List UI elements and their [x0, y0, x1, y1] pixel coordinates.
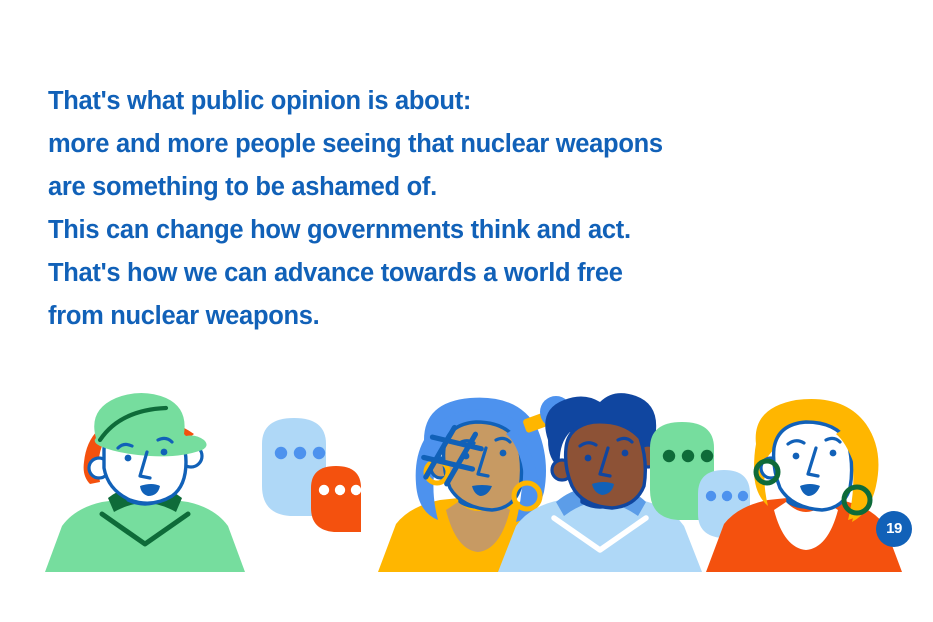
figure1-body: [45, 496, 245, 572]
bubble-a-dot-1: [275, 447, 287, 459]
headline-line-6: from nuclear weapons.: [48, 295, 848, 338]
figure1-eye-right: [161, 449, 168, 456]
page-number-badge: 19: [876, 511, 912, 547]
bubble-c-dot-3: [701, 450, 713, 462]
figure3-eye-left: [585, 455, 592, 462]
headline-line-5: That's how we can advance towards a worl…: [48, 252, 848, 295]
people-illustration: [0, 390, 933, 580]
headline-line-3: are something to be ashamed of.: [48, 166, 848, 209]
headline-line-4: This can change how governments think an…: [48, 209, 848, 252]
bubble-d-dot-2: [722, 491, 732, 501]
bubble-b-dot-3: [351, 485, 361, 495]
figure4-eye-right: [830, 450, 837, 457]
figure1-eye-left: [125, 455, 132, 462]
bubble-group-a: [262, 418, 361, 532]
bubble-c-dot-1: [663, 450, 675, 462]
bubble-b-dot-2: [335, 485, 345, 495]
headline-line-2: more and more people seeing that nuclear…: [48, 123, 848, 166]
figure4-eye-left: [793, 453, 800, 460]
bubble-a-dot-2: [294, 447, 306, 459]
bubble-d-dot-3: [738, 491, 748, 501]
headline-text-block: That's what public opinion is about: mor…: [48, 80, 848, 338]
bubble-d-dot-1: [706, 491, 716, 501]
bubble-a-dot-3: [313, 447, 325, 459]
figure-person-green-cap: [45, 393, 245, 572]
figure3-eye-right: [622, 450, 629, 457]
bubble-c-dot-2: [682, 450, 694, 462]
slide-canvas: That's what public opinion is about: mor…: [0, 0, 933, 622]
bubble-b-dot-1: [319, 485, 329, 495]
figure3-face: [566, 422, 646, 508]
bubble-orange-small: [311, 466, 361, 532]
headline-line-1: That's what public opinion is about:: [48, 80, 848, 123]
figure2-eye-right: [500, 450, 507, 457]
